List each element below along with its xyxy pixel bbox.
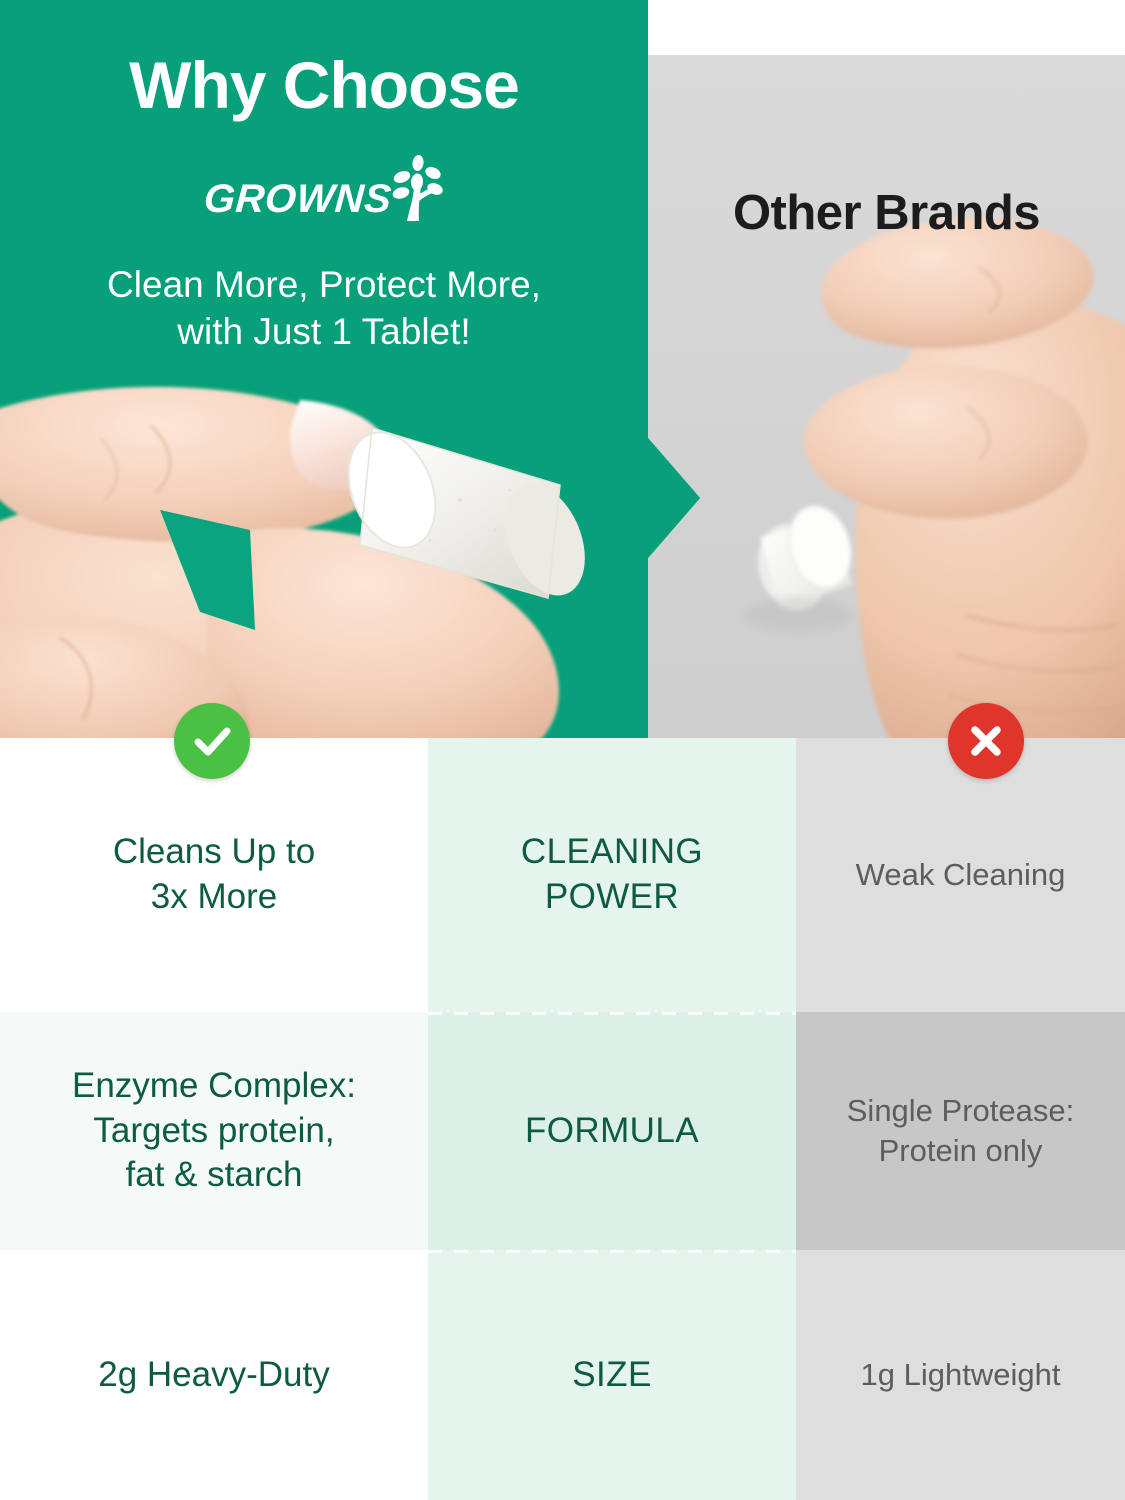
row-ours-cell: Enzyme Complex: Targets protein, fat & s… xyxy=(0,1012,428,1250)
ours-line-2: 3x More xyxy=(113,875,315,920)
tagline-line-2: with Just 1 Tablet! xyxy=(0,309,648,356)
comparison-infographic: Other Brands xyxy=(0,0,1125,1500)
brand-panel: Why Choose GROWNS xyxy=(0,0,700,738)
row-theirs-cell: Weak Cleaning xyxy=(796,738,1125,1012)
table-row: Cleans Up to 3x More CLEANING POWER Weak… xyxy=(0,738,1125,1012)
brand-logo-text: GROWNS xyxy=(203,179,393,219)
x-icon xyxy=(965,720,1007,762)
tree-leaves-icon xyxy=(388,155,444,221)
table-row: 2g Heavy-Duty SIZE 1g Lightweight xyxy=(0,1250,1125,1500)
label-line-1: FORMULA xyxy=(525,1109,699,1154)
label-line-1: CLEANING xyxy=(521,830,703,875)
cross-badge xyxy=(948,703,1024,779)
other-brands-panel: Other Brands xyxy=(648,55,1125,738)
row-label-cell: FORMULA xyxy=(428,1012,796,1250)
row-divider xyxy=(428,1012,796,1015)
row-theirs-cell: 1g Lightweight xyxy=(796,1250,1125,1500)
brand-logo: GROWNS xyxy=(0,155,648,219)
row-divider xyxy=(428,1250,796,1253)
page-title: Why Choose xyxy=(0,52,648,118)
theirs-line-1: 1g Lightweight xyxy=(861,1355,1061,1395)
check-badge xyxy=(174,703,250,779)
row-label-cell: CLEANING POWER xyxy=(428,738,796,1012)
ours-line-1: Enzyme Complex: xyxy=(72,1064,356,1109)
theirs-line-2: Protein only xyxy=(847,1131,1074,1171)
ours-line-3: fat & starch xyxy=(72,1153,356,1198)
row-ours-cell: 2g Heavy-Duty xyxy=(0,1250,428,1500)
label-line-1: SIZE xyxy=(572,1353,651,1398)
theirs-line-1: Single Protease: xyxy=(847,1091,1074,1131)
check-icon xyxy=(189,718,235,764)
ours-line-2: Targets protein, xyxy=(72,1109,356,1154)
row-ours-cell: Cleans Up to 3x More xyxy=(0,738,428,1012)
row-label-cell: SIZE xyxy=(428,1250,796,1500)
comparison-table: Cleans Up to 3x More CLEANING POWER Weak… xyxy=(0,738,1125,1500)
ours-line-1: 2g Heavy-Duty xyxy=(98,1353,329,1398)
label-line-2: POWER xyxy=(521,875,703,920)
tagline-line-1: Clean More, Protect More, xyxy=(0,262,648,309)
ours-line-1: Cleans Up to xyxy=(113,830,315,875)
hero-section: Other Brands xyxy=(0,0,1125,738)
other-brands-title: Other Brands xyxy=(648,185,1125,241)
theirs-line-1: Weak Cleaning xyxy=(856,855,1066,895)
grownsTablet-photo xyxy=(0,380,648,738)
table-row: Enzyme Complex: Targets protein, fat & s… xyxy=(0,1012,1125,1250)
tagline: Clean More, Protect More, with Just 1 Ta… xyxy=(0,262,648,355)
row-theirs-cell: Single Protease: Protein only xyxy=(796,1012,1125,1250)
other-brand-tablet-photo xyxy=(648,55,1125,738)
